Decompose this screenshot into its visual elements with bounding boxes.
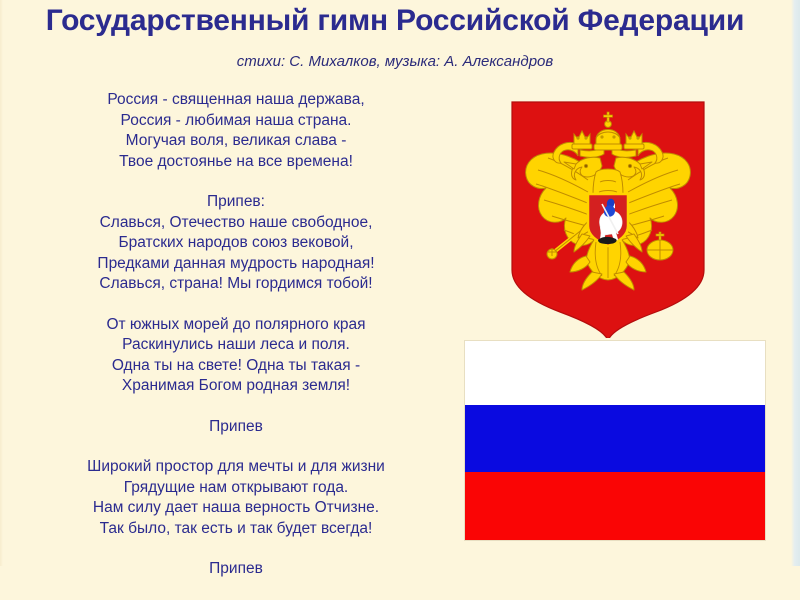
lyric-line: Предками данная мудрость народная!: [36, 254, 436, 275]
poster-page: Государственный гимн Российской Федераци…: [0, 0, 800, 566]
lyric-stanza-verse-1: Россия - священная наша держава, Россия …: [36, 90, 436, 172]
anthem-lyrics: Россия - священная наша держава, Россия …: [36, 90, 436, 600]
lyric-line: Братских народов союз вековой,: [36, 233, 436, 254]
flag-of-russia-icon: [465, 341, 765, 540]
lyric-line: Хранимая Богом родная земля!: [36, 376, 436, 397]
lyric-line: Нам силу дает наша верность Отчизне.: [36, 498, 436, 519]
chorus-marker-label: Припев: [36, 559, 436, 580]
lyric-line: Россия - священная наша держава,: [36, 90, 436, 111]
lyric-stanza-verse-2: От южных морей до полярного края Раскину…: [36, 315, 436, 397]
chorus-marker: Припев: [36, 559, 436, 580]
page-right-edge: [791, 0, 800, 566]
coat-of-arms-icon: [508, 100, 708, 338]
lyric-line: Славься, Отечество наше свободное,: [36, 213, 436, 234]
lyric-line: Грядущие нам открывают года.: [36, 478, 436, 499]
page-title: Государственный гимн Российской Федераци…: [0, 4, 790, 38]
chorus-heading: Припев:: [36, 192, 436, 213]
lyric-line: Могучая воля, великая слава -: [36, 131, 436, 152]
lyric-line: Раскинулись наши леса и поля.: [36, 335, 436, 356]
saint-george-shield: [588, 194, 628, 246]
lyric-stanza-chorus-1: Припев: Славься, Отечество наше свободно…: [36, 192, 436, 295]
lyric-line: Твое достоянье на все времена!: [36, 152, 436, 173]
page-subtitle: стихи: С. Михалков, музыка: А. Александр…: [0, 53, 790, 70]
lyric-stanza-verse-3: Широкий простор для мечты и для жизни Гр…: [36, 457, 436, 539]
page-left-edge: [0, 0, 3, 566]
flag-stripe-white: [465, 341, 765, 405]
lyric-line: Так было, так есть и так будет всегда!: [36, 519, 436, 540]
flag-stripe-red: [465, 472, 765, 540]
chorus-marker: Припев: [36, 417, 436, 438]
lyric-line: Одна ты на свете! Одна ты такая -: [36, 356, 436, 377]
flag-stripe-blue: [465, 405, 765, 472]
lyric-line: Широкий простор для мечты и для жизни: [36, 457, 436, 478]
lyric-line: Славься, страна! Мы гордимся тобой!: [36, 274, 436, 295]
chorus-marker-label: Припев: [36, 417, 436, 438]
lyric-line: Россия - любимая наша страна.: [36, 111, 436, 132]
lyric-line: От южных морей до полярного края: [36, 315, 436, 336]
